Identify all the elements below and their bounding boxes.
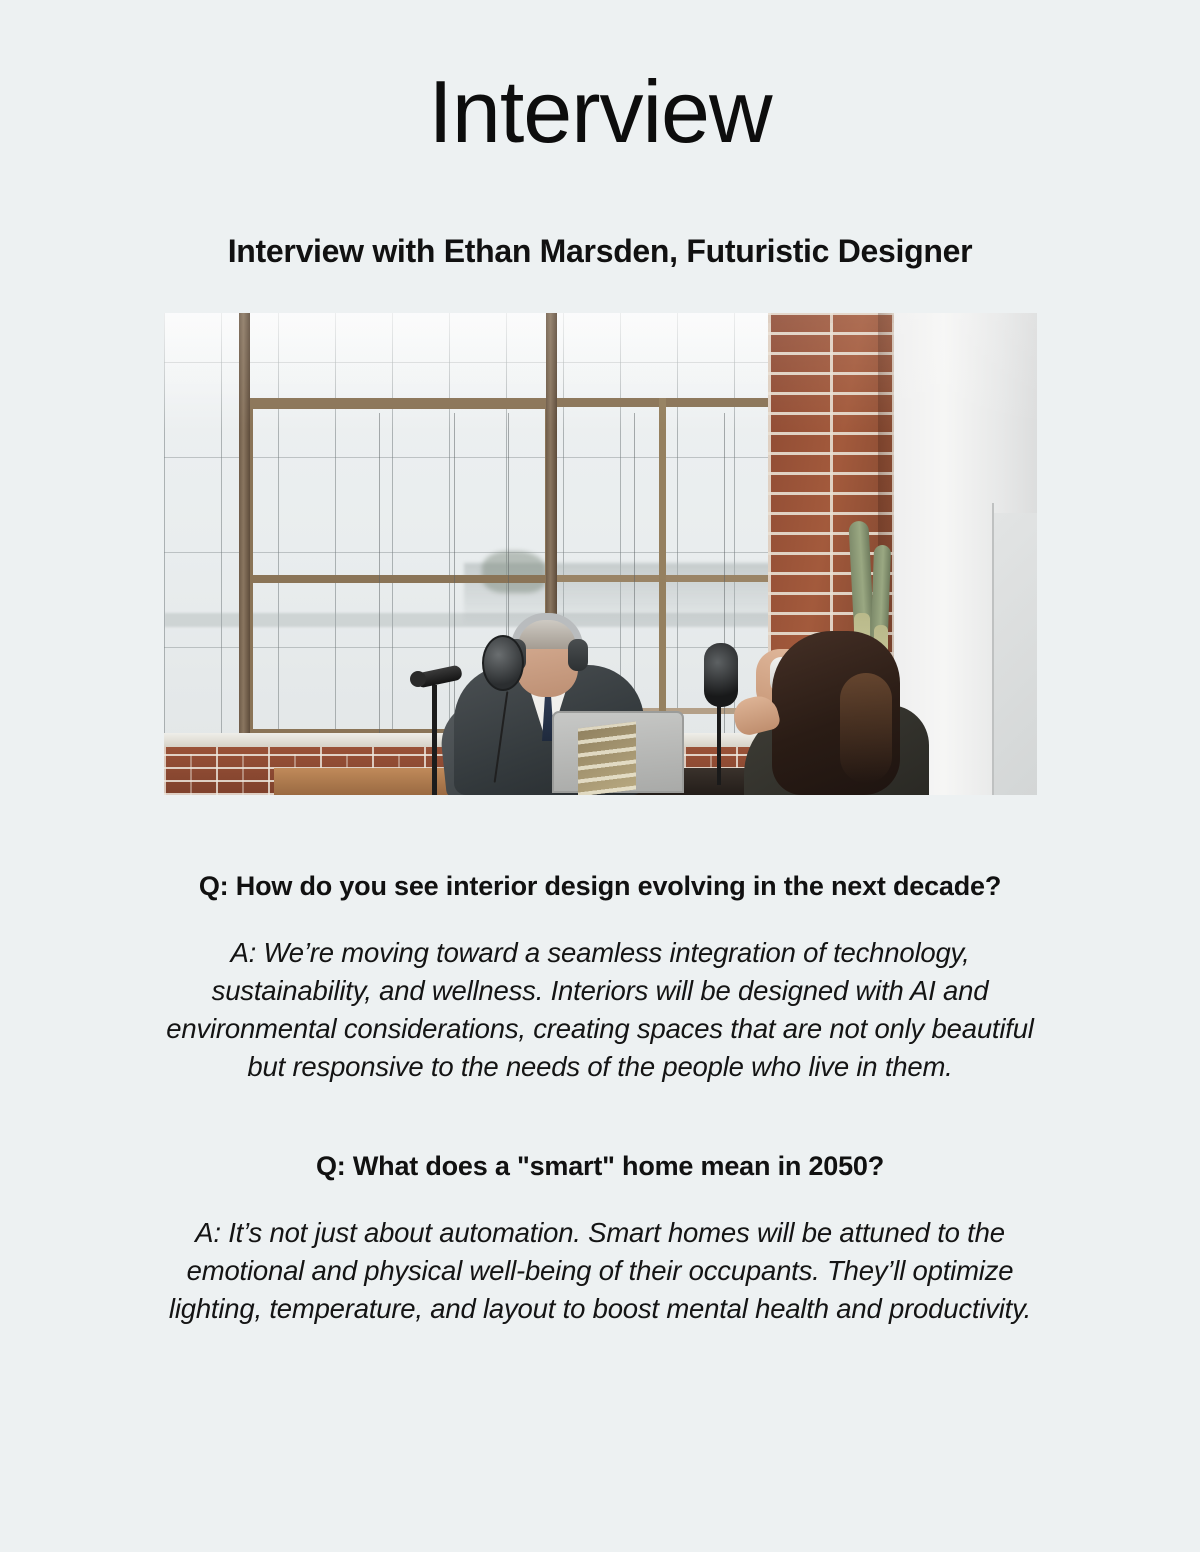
- answer-2: A: It’s not just about automation. Smart…: [150, 1214, 1050, 1328]
- window-center-post: [659, 398, 666, 714]
- headphone-cup-right: [568, 639, 588, 671]
- answer-1: A: We’re moving toward a seamless integr…: [150, 934, 1050, 1086]
- window-frame-post-left: [239, 313, 250, 743]
- interview-page: Interview Interview with Ethan Marsden, …: [0, 0, 1200, 1552]
- pop-filter: [482, 635, 524, 691]
- microphone-arm-right: [717, 705, 721, 785]
- question-2: Q: What does a "smart" home mean in 2050…: [150, 1149, 1050, 1184]
- page-title: Interview: [0, 66, 1200, 158]
- window-wire-1: [379, 413, 380, 743]
- laptop-screen-reflection-lines: [578, 721, 636, 795]
- interview-photo: [164, 313, 1037, 795]
- interview-subtitle: Interview with Ethan Marsden, Futuristic…: [0, 231, 1200, 271]
- microphone-right: [704, 643, 738, 707]
- window-wire-2: [454, 413, 455, 743]
- wall-panel: [994, 513, 1037, 795]
- wall-edge: [992, 503, 994, 795]
- question-1: Q: How do you see interior design evolvi…: [150, 869, 1050, 904]
- microphone-stand: [432, 685, 437, 795]
- female-interviewer-hair-highlight: [840, 673, 892, 783]
- microphone-mount: [410, 671, 426, 687]
